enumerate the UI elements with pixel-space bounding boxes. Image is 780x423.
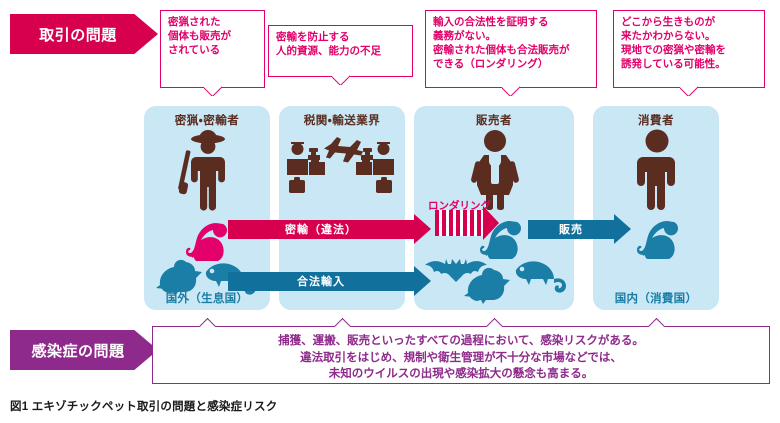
callout-poaching-line-1: 密猟された (168, 16, 257, 30)
callout-consumer-line-4: 誘発している可能性。 (621, 58, 757, 72)
trade-section-banner-label: 取引の問題 (39, 24, 117, 45)
monkey-blue-icon (627, 214, 689, 262)
disease-notch-2 (332, 316, 352, 327)
column-customs-header: 税関・輸送業界 (279, 112, 405, 128)
callout-consumer-pointer (680, 86, 698, 96)
callout-seller-line-4: できる（ロンダリング） (433, 58, 589, 72)
flow-legal-import-arrowhead (414, 266, 431, 296)
flow-laundering-stripes (435, 210, 483, 236)
disease-panel: 捕獲、運搬、販売といったすべての過程において、感染リスクがある。 違法取引をはじ… (152, 326, 770, 384)
callout-customs: 密輸を防止する 人的資源、能力の不足 (268, 25, 413, 77)
callout-poaching-pointer (204, 86, 222, 96)
callout-seller-line-1: 輸入の合法性を証明する (433, 16, 589, 30)
disease-section-banner-label: 感染症の問題 (31, 340, 124, 361)
customs-officer-icon (287, 128, 397, 200)
callout-seller-pointer (502, 86, 520, 96)
column-consumer: 消費者 国内（消費国） (593, 106, 719, 310)
disease-section-banner: 感染症の問題 (10, 330, 158, 370)
callout-seller-line-2: 義務がない。 (433, 30, 589, 44)
callout-customs-pointer (332, 75, 350, 85)
column-seller-header: 販売者 (414, 112, 574, 128)
callout-customs-line-2: 人的資源、能力の不足 (276, 45, 405, 59)
callout-poaching: 密猟された 個体も販売が されている (160, 10, 265, 88)
disease-notch-3 (484, 316, 504, 327)
flow-sale: 販売 (528, 214, 631, 244)
disease-line-1: 捕獲、運搬、販売といったすべての過程において、感染リスクがある。 (153, 333, 769, 350)
region-label-destination: 国内（消費国） (593, 290, 719, 306)
consumer-icon (631, 128, 683, 210)
flow-legal-import: 合法輸入 (228, 266, 431, 296)
callout-consumer-line-3: 現地での密猟や密輸を (621, 44, 757, 58)
disease-line-3: 未知のウイルスの出現や感染拡大の懸念も高まる。 (153, 366, 769, 383)
flow-smuggling: 密輸（違法） (228, 214, 431, 244)
callout-poaching-line-3: されている (168, 44, 257, 58)
figure-root: 取引の問題 密猟された 個体も販売が されている 密輸を防止する 人的資源、能力… (0, 0, 780, 423)
trade-section-banner: 取引の問題 (10, 14, 158, 54)
callout-seller-line-3: 密輸された個体も合法販売が (433, 44, 589, 58)
callout-consumer: どこから生きものが 来たかわからない。 現地での密猟や密輸を 誘発している可能性… (613, 10, 765, 88)
disease-notch-4 (646, 316, 666, 327)
callout-seller: 輸入の合法性を証明する 義務がない。 密輸された個体も合法販売が できる（ロンダ… (425, 10, 597, 88)
flow-smuggling-arrowhead (414, 214, 431, 244)
flow-sale-label: 販売 (528, 220, 614, 239)
flow-legal-import-label: 合法輸入 (228, 272, 414, 291)
figure-caption: 図1 エキゾチックペット取引の問題と感染症リスク (10, 398, 277, 414)
hunter-icon (172, 128, 238, 212)
chameleon-icon (512, 256, 572, 296)
column-consumer-header: 消費者 (593, 112, 719, 128)
disease-line-2: 違法取引をはじめ、規制や衛生管理が不十分な市場などでは、 (153, 350, 769, 367)
callout-consumer-line-2: 来たかわからない。 (621, 30, 757, 44)
callout-poaching-line-2: 個体も販売が (168, 30, 257, 44)
disease-panel-text: 捕獲、運搬、販売といったすべての過程において、感染リスクがある。 違法取引をはじ… (153, 333, 769, 383)
flow-smuggling-label: 密輸（違法） (228, 220, 414, 239)
column-poacher-header: 密猟・密輸者 (144, 112, 270, 128)
callout-consumer-line-1: どこから生きものが (621, 16, 757, 30)
flow-laundering-arrowhead (483, 206, 499, 240)
flow-sale-arrowhead (614, 214, 631, 244)
callout-customs-line-1: 密輸を防止する (276, 31, 405, 45)
disease-notch-1 (197, 316, 217, 327)
